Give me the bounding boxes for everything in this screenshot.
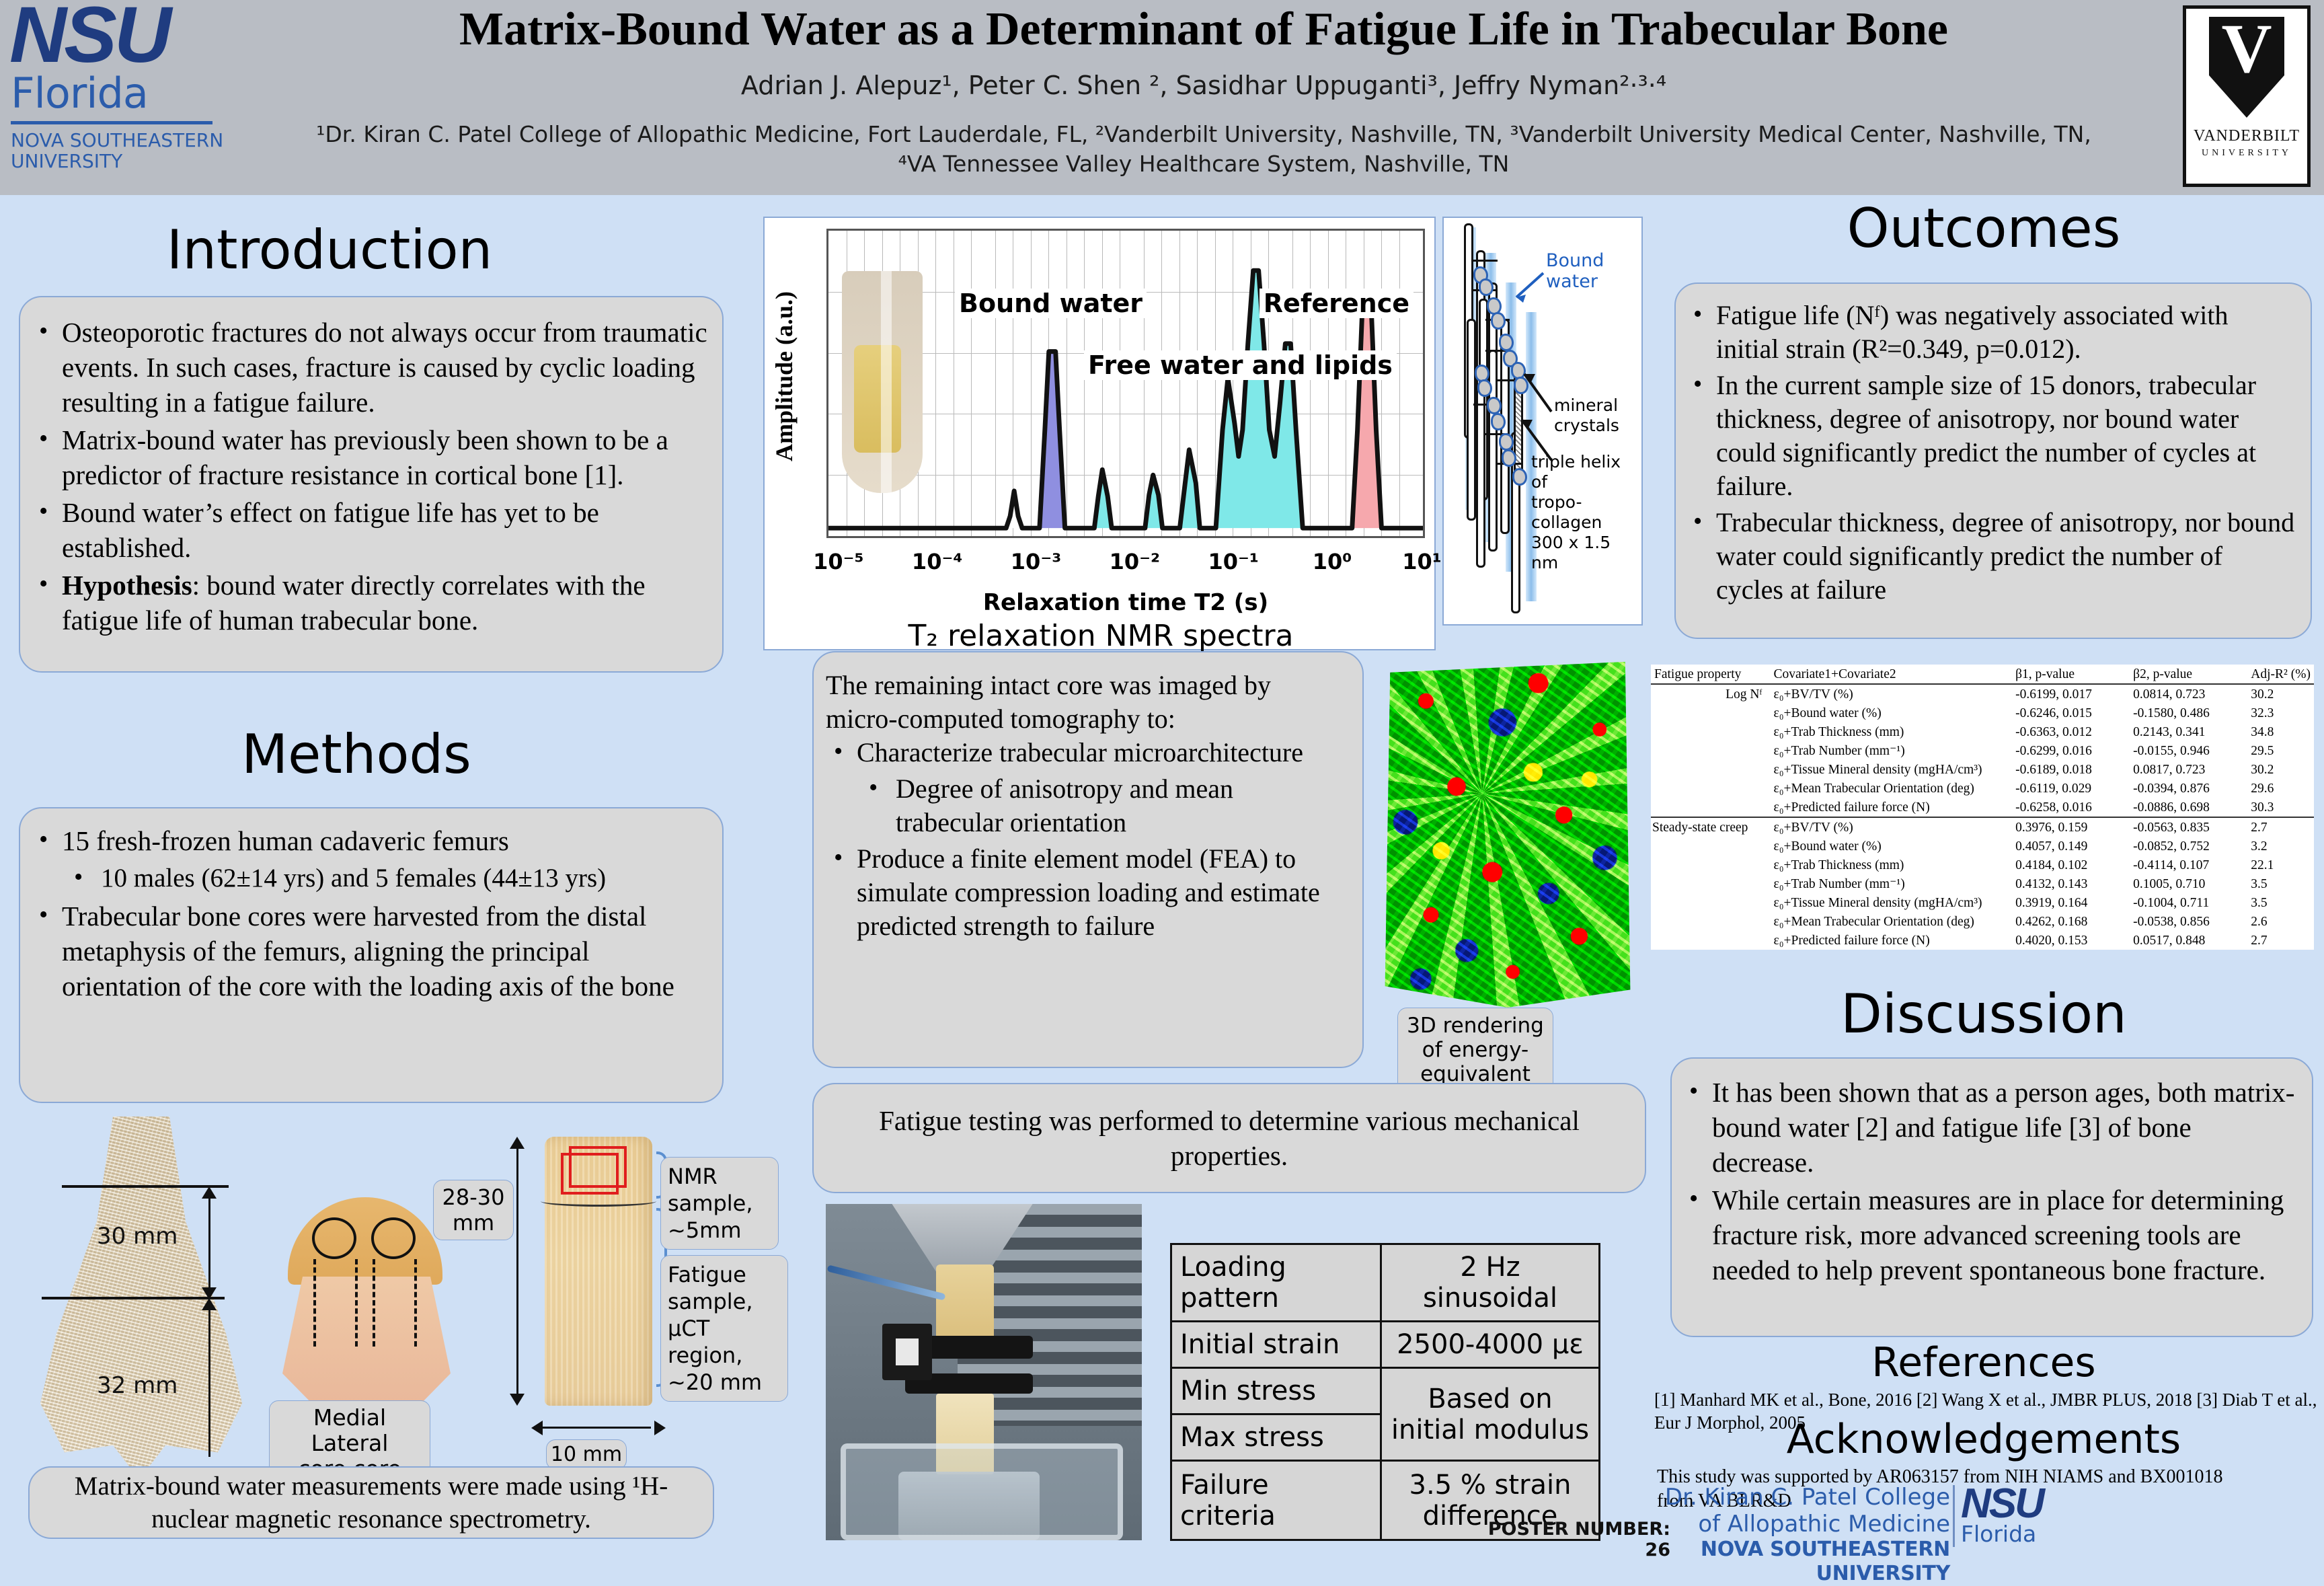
footer-nsu-florida: Florida — [1961, 1523, 2176, 1546]
affiliation-list: ¹Dr. Kiran C. Patel College of Allopathi… — [309, 120, 2098, 179]
table-row: ε₀+Mean Trabecular Orientation (deg) 0.4… — [1651, 912, 2314, 931]
femur-label-lower: 32 mm — [97, 1372, 178, 1399]
nmr-spectra-figure: Amplitude (a.u.) — [763, 217, 1436, 650]
cell-beta2: -0.0852, 0.752 — [2130, 837, 2247, 856]
cell-beta2: 0.0814, 0.723 — [2130, 684, 2247, 704]
collagen-fibril — [1476, 386, 1485, 568]
x-tick-label: 10¹ — [1402, 549, 1442, 574]
epiphysis-photo — [282, 1197, 451, 1419]
cell-adj-r2: 34.8 — [2247, 722, 2314, 741]
strain-colormap-texture — [1380, 651, 1635, 1008]
row-label: Failure criteria — [1171, 1461, 1381, 1540]
list-item: Produce a finite element model (FEA) to … — [826, 842, 1346, 943]
nmr-x-axis-ticks: 10⁻⁵ 10⁻⁴ 10⁻³ 10⁻² 10⁻¹ 10⁰ 10¹ — [826, 549, 1425, 581]
nmr-region-outline — [561, 1153, 619, 1195]
vanderbilt-name: VANDERBILT — [2194, 127, 2300, 145]
row-label: Max stress — [1171, 1414, 1381, 1461]
cell-adj-r2: 30.2 — [2247, 684, 2314, 704]
mineral-crystal — [1502, 449, 1516, 467]
introduction-bullet-list: Osteoporotic fractures do not always occ… — [31, 315, 707, 638]
table-row: Loading pattern 2 Hz sinusoidal — [1171, 1244, 1600, 1322]
nmr-sample-tube-photo — [842, 271, 923, 493]
discussion-heading: Discussion — [1668, 986, 2300, 1043]
cell-beta2: -0.1004, 0.711 — [2130, 893, 2247, 912]
cell-adj-r2: 29.6 — [2247, 779, 2314, 798]
tube-glass-highlight — [881, 271, 892, 493]
list-item-hypothesis: Hypothesis: bound water directly correla… — [31, 568, 707, 638]
methods-bullet-list: 15 fresh-frozen human cadaveric femurs 1… — [31, 823, 707, 1004]
list-item: Trabecular thickness, degree of anisotro… — [1685, 506, 2296, 607]
x-tick-label: 10⁻³ — [1011, 549, 1061, 574]
nmr-measurement-text: Matrix-bound water measurements were mad… — [47, 1470, 695, 1536]
introduction-heading: Introduction — [121, 222, 538, 278]
mineral-crystal — [1487, 397, 1502, 414]
cell-adj-r2: 32.3 — [2247, 704, 2314, 722]
table-row: ε₀+Trab Thickness (mm) -0.6363, 0.012 0.… — [1651, 722, 2314, 741]
table-row: ε₀+Trab Thickness (mm) 0.4184, 0.102 -0.… — [1651, 856, 2314, 874]
cut-line-lower — [42, 1297, 225, 1299]
cell-beta2: 0.0517, 0.848 — [2130, 931, 2247, 950]
cell-beta1: 0.3919, 0.164 — [2012, 893, 2130, 912]
methods-heading: Methods — [168, 726, 545, 783]
footer-nsu-wordmark: NSU — [1961, 1485, 2176, 1523]
x-tick-label: 10⁻⁵ — [813, 549, 863, 574]
cell-covariate: ε₀+Bound water (%) — [1771, 704, 2013, 722]
microct-bullet-list: Characterize trabecular microarchitectur… — [826, 736, 1346, 943]
fea-strain-rendering — [1380, 651, 1635, 1008]
vanderbilt-logo: V VANDERBILT UNIVERSITY — [2183, 5, 2311, 187]
blue-probe-tool — [826, 1264, 945, 1300]
annotation-reference: Reference — [1260, 289, 1413, 318]
outcomes-bullet-list: Fatigue life (Nᶠ) was negatively associa… — [1685, 299, 2296, 607]
hypothesis-label: Hypothesis — [62, 570, 192, 601]
x-tick-label: 10⁻² — [1110, 549, 1160, 574]
x-tick-label: 10⁻¹ — [1208, 549, 1258, 574]
nsu-logo-fullname: NOVA SOUTHEASTERN UNIVERSITY — [11, 130, 235, 172]
mineral-crystal — [1512, 468, 1527, 486]
cell-covariate: ε₀+Tissue Mineral density (mgHA/cm³) — [1771, 893, 2013, 912]
footer-college-line2: of Allopathic Medicine — [1634, 1511, 1950, 1538]
cell-beta2: 0.2143, 0.341 — [2130, 722, 2247, 741]
lateral-core-outline — [371, 1217, 416, 1259]
arrow-right-icon — [654, 1421, 666, 1435]
mineral-crystal — [1479, 278, 1494, 296]
nsu-logo: NSU Florida NOVA SOUTHEASTERN UNIVERSITY — [7, 0, 235, 195]
cell-beta2: -0.1580, 0.486 — [2130, 704, 2247, 722]
cell-adj-r2: 3.2 — [2247, 837, 2314, 856]
list-item: Matrix-bound water has previously been s… — [31, 422, 707, 492]
row-label: Loading pattern — [1171, 1244, 1381, 1322]
vanderbilt-shield-letter: V — [2221, 13, 2272, 85]
table-row: ε₀+Tissue Mineral density (mgHA/cm³) 0.3… — [1651, 893, 2314, 912]
collagen-schematic-figure: Bound water mineral crystals triple heli… — [1442, 217, 1643, 626]
cell-covariate: ε₀+BV/TV (%) — [1771, 684, 2013, 704]
cell-covariate: ε₀+BV/TV (%) — [1771, 817, 2013, 837]
bone-core-photo — [545, 1137, 652, 1406]
references-heading: References — [1668, 1341, 2300, 1384]
list-item: Osteoporotic fractures do not always occ… — [31, 315, 707, 420]
cell-covariate: ε₀+Tissue Mineral density (mgHA/cm³) — [1771, 760, 2013, 779]
cell-beta1: 0.4057, 0.149 — [2012, 837, 2130, 856]
dimension-line-upper — [208, 1191, 210, 1295]
list-item: Degree of anisotropy and mean trabecular… — [826, 772, 1346, 839]
cell-beta2: -0.0886, 0.698 — [2130, 798, 2247, 817]
cell-covariate: ε₀+Mean Trabecular Orientation (deg) — [1771, 912, 2013, 931]
list-item: Bound water’s effect on fatigue life has… — [31, 495, 707, 565]
row-value: 2500-4000 με — [1381, 1322, 1600, 1368]
loading-parameters-table: Loading pattern 2 Hz sinusoidal Initial … — [1170, 1243, 1600, 1541]
cell-beta1: 0.4020, 0.153 — [2012, 931, 2130, 950]
mineral-crystal — [1491, 413, 1506, 430]
cell-beta2: -0.0538, 0.856 — [2130, 912, 2247, 931]
cell-covariate: ε₀+Predicted failure force (N) — [1771, 931, 2013, 950]
epiphysis-cut-surface — [288, 1197, 442, 1285]
core-depth-dashed-line — [313, 1259, 316, 1347]
cell-covariate: ε₀+Predicted failure force (N) — [1771, 798, 2013, 817]
table-row: ε₀+Trab Number (mm⁻¹) 0.4132, 0.143 0.10… — [1651, 874, 2314, 893]
footer-divider — [1953, 1485, 1955, 1547]
outcomes-panel: Fatigue life (Nᶠ) was negatively associa… — [1674, 282, 2312, 639]
list-item: While certain measures are in place for … — [1681, 1182, 2298, 1287]
bone-marrow-sample — [854, 345, 901, 453]
cell-beta2: -0.0563, 0.835 — [2130, 817, 2247, 837]
cell-beta1: -0.6258, 0.016 — [2012, 798, 2130, 817]
cell-beta1: -0.6299, 0.016 — [2012, 741, 2130, 760]
cell-beta2: 0.1005, 0.710 — [2130, 874, 2247, 893]
list-item: In the current sample size of 15 donors,… — [1685, 369, 2296, 503]
nmr-plot-area: Bound water Reference Free water and lip… — [826, 229, 1425, 538]
column-header: Adj-R² (%) — [2247, 665, 2314, 684]
cell-beta1: 0.4132, 0.143 — [2012, 874, 2130, 893]
cell-adj-r2: 30.2 — [2247, 760, 2314, 779]
column-header: Fatigue property — [1651, 665, 1771, 684]
arrow-up-icon — [202, 1186, 217, 1199]
poster-header: NSU Florida NOVA SOUTHEASTERN UNIVERSITY… — [0, 0, 2324, 195]
annotation-bound-water: Bound water — [955, 289, 1147, 318]
epiphysis-body — [282, 1277, 451, 1411]
core-length-caption: 28-30 mm — [433, 1180, 514, 1240]
footer-university: NOVA SOUTHEASTERN UNIVERSITY — [1634, 1538, 1950, 1586]
cell-beta1: -0.6199, 0.017 — [2012, 684, 2130, 704]
mineral-crystal — [1499, 334, 1514, 351]
cell-covariate: ε₀+Trab Thickness (mm) — [1771, 856, 2013, 874]
cell-covariate: ε₀+Trab Number (mm⁻¹) — [1771, 874, 2013, 893]
regression-results-table: Fatigue property Covariate1+Covariate2 β… — [1651, 665, 2314, 950]
table-row: Log Nᶠ ε₀+BV/TV (%) -0.6199, 0.017 0.081… — [1651, 684, 2314, 704]
label-bound-water: Bound water — [1546, 250, 1641, 292]
cell-beta1: -0.6246, 0.015 — [2012, 704, 2130, 722]
cell-adj-r2: 30.3 — [2247, 798, 2314, 817]
nmr-x-axis-label: Relaxation time T2 (s) — [826, 589, 1425, 616]
cell-adj-r2: 2.6 — [2247, 912, 2314, 931]
extensometer-sensor — [882, 1324, 932, 1380]
cell-adj-r2: 3.5 — [2247, 893, 2314, 912]
medial-core-outline — [312, 1217, 356, 1259]
column-header: β1, p-value — [2012, 665, 2130, 684]
cell-beta1: -0.6189, 0.018 — [2012, 760, 2130, 779]
fatigue-sample-caption: Fatigue sample, μCT region, ~20 mm — [660, 1255, 788, 1402]
fatigue-testing-note: Fatigue testing was performed to determi… — [812, 1083, 1646, 1193]
mineral-crystal — [1491, 312, 1506, 330]
cell-adj-r2: 22.1 — [2247, 856, 2314, 874]
cell-covariate: ε₀+Trab Thickness (mm) — [1771, 722, 2013, 741]
column-header: β2, p-value — [2130, 665, 2247, 684]
mineral-crystal — [1477, 379, 1492, 397]
table-row: ε₀+Bound water (%) -0.6246, 0.015 -0.158… — [1651, 704, 2314, 722]
cell-beta1: -0.6119, 0.029 — [2012, 779, 2130, 798]
table-header-row: Fatigue property Covariate1+Covariate2 β… — [1651, 665, 2314, 684]
table-row: ε₀+Tissue Mineral density (mgHA/cm³) -0.… — [1651, 760, 2314, 779]
cell-adj-r2: 29.5 — [2247, 741, 2314, 760]
list-item: Fatigue life (Nᶠ) was negatively associa… — [1685, 299, 2296, 366]
arrow-up-icon — [510, 1137, 525, 1149]
row-label: Initial strain — [1171, 1322, 1381, 1368]
table-row: ε₀+Bound water (%) 0.4057, 0.149 -0.0852… — [1651, 837, 2314, 856]
footer-nsu-logo: NSU Florida — [1961, 1485, 2176, 1550]
core-depth-dashed-line — [355, 1259, 358, 1347]
table-row: ε₀+Mean Trabecular Orientation (deg) -0.… — [1651, 779, 2314, 798]
cell-adj-r2: 2.7 — [2247, 931, 2314, 950]
dimension-line-lower — [208, 1302, 210, 1457]
methods-panel: 15 fresh-frozen human cadaveric femurs 1… — [19, 807, 724, 1103]
group-label: Log Nᶠ — [1651, 684, 1771, 704]
core-diameter-dimension — [531, 1419, 666, 1437]
table-row: ε₀+Predicted failure force (N) -0.6258, … — [1651, 798, 2314, 817]
discussion-panel: It has been shown that as a person ages,… — [1670, 1057, 2313, 1337]
mechanical-testing-photo — [826, 1204, 1142, 1540]
table-row: ε₀+Predicted failure force (N) 0.4020, 0… — [1651, 931, 2314, 950]
nsu-logo-florida: Florida — [11, 73, 235, 114]
table-row: Initial strain 2500-4000 με — [1171, 1322, 1600, 1368]
vanderbilt-shield-icon: V — [2209, 17, 2284, 118]
microct-intro: The remaining intact core was imaged by … — [826, 669, 1346, 736]
core-depth-dashed-line — [373, 1259, 375, 1347]
microct-panel: The remaining intact core was imaged by … — [812, 651, 1364, 1068]
footer-college-line1: Dr. Kiran C. Patel College — [1634, 1484, 1950, 1511]
table-row: Steady-state creep ε₀+BV/TV (%) 0.3976, … — [1651, 817, 2314, 837]
annotation-free-water: Free water and lipids — [1084, 350, 1397, 380]
core-diameter-caption: 10 mm — [546, 1439, 627, 1470]
arrow-up-icon — [202, 1298, 217, 1310]
cell-covariate: ε₀+Trab Number (mm⁻¹) — [1771, 741, 2013, 760]
cell-beta2: -0.0394, 0.876 — [2130, 779, 2247, 798]
arrow-down-icon — [510, 1394, 525, 1406]
nmr-measurement-note: Matrix-bound water measurements were mad… — [28, 1466, 714, 1539]
cell-beta2: -0.4114, 0.107 — [2130, 856, 2247, 874]
table-row: ε₀+Trab Number (mm⁻¹) -0.6299, 0.016 -0.… — [1651, 741, 2314, 760]
mineral-crystal — [1499, 433, 1514, 451]
nmr-figure-title: T₂ relaxation NMR spectra — [765, 619, 1437, 653]
nmr-sample-caption: NMR sample, ~5mm — [660, 1157, 779, 1250]
list-item: 15 fresh-frozen human cadaveric femurs — [31, 823, 707, 858]
x-tick-label: 10⁰ — [1313, 549, 1352, 574]
core-depth-dashed-line — [414, 1259, 417, 1347]
outcomes-heading: Outcomes — [1668, 200, 2300, 257]
femur-label-upper: 30 mm — [97, 1223, 178, 1250]
row-value: 2 Hz sinusoidal — [1381, 1244, 1600, 1322]
cell-covariate: ε₀+Mean Trabecular Orientation (deg) — [1771, 779, 2013, 798]
list-item: 10 males (62±14 yrs) and 5 females (44±1… — [31, 861, 707, 896]
list-item: It has been shown that as a person ages,… — [1681, 1075, 2298, 1180]
cell-beta2: -0.0155, 0.946 — [2130, 741, 2247, 760]
x-tick-label: 10⁻⁴ — [912, 549, 962, 574]
group-label: Steady-state creep — [1651, 817, 1771, 837]
label-mineral-crystals: mineral crystals — [1554, 395, 1619, 436]
collagen-fibril — [1488, 350, 1498, 552]
cell-beta1: 0.4262, 0.168 — [2012, 912, 2130, 931]
cell-adj-r2: 2.7 — [2247, 817, 2314, 837]
cell-covariate: ε₀+Bound water (%) — [1771, 837, 2013, 856]
femur-section-photo: 30 mm 32 mm — [40, 1117, 242, 1466]
list-item: Characterize trabecular microarchitectur… — [826, 736, 1346, 769]
cell-beta2: 0.0817, 0.723 — [2130, 760, 2247, 779]
core-length-dimension-line — [516, 1142, 518, 1399]
fatigue-testing-text: Fatigue testing was performed to determi… — [834, 1103, 1625, 1173]
author-list: Adrian J. Alepuz¹, Peter C. Shen ², Sasi… — [242, 70, 2165, 101]
nsu-logo-divider — [11, 121, 212, 124]
list-item: Trabecular bone cores were harvested fro… — [31, 899, 707, 1004]
mineral-crystal — [1514, 377, 1528, 394]
nsu-logo-wordmark: NSU — [9, 0, 235, 70]
dimension-bar — [541, 1427, 651, 1429]
saline-bath-container — [841, 1443, 1123, 1540]
row-value: Based on initial modulus — [1381, 1368, 1600, 1461]
table-row: Min stress Based on initial modulus — [1171, 1368, 1600, 1414]
footer-college-block: Dr. Kiran C. Patel College of Allopathic… — [1634, 1484, 1950, 1586]
label-tropocollagen: triple helix of tropo-collagen 300 x 1.5… — [1531, 452, 1641, 573]
collagen-fibril — [1467, 319, 1476, 521]
introduction-panel: Osteoporotic fractures do not always occ… — [19, 296, 724, 673]
nmr-y-axis-label: Amplitude (a.u.) — [769, 265, 800, 487]
page-title: Matrix-Bound Water as a Determinant of F… — [242, 4, 2165, 55]
cell-beta1: -0.6363, 0.012 — [2012, 722, 2130, 741]
cell-adj-r2: 3.5 — [2247, 874, 2314, 893]
row-label: Min stress — [1171, 1368, 1381, 1414]
vanderbilt-subname: UNIVERSITY — [2202, 148, 2292, 159]
cell-beta1: 0.3976, 0.159 — [2012, 817, 2130, 837]
acknowledgements-heading: Acknowledgements — [1668, 1418, 2300, 1461]
core-cut-curve — [541, 1196, 656, 1207]
column-header: Covariate1+Covariate2 — [1771, 665, 2013, 684]
cell-beta1: 0.4184, 0.102 — [2012, 856, 2130, 874]
horizontal-arrow-icon — [531, 1419, 666, 1437]
discussion-bullet-list: It has been shown that as a person ages,… — [1681, 1075, 2298, 1287]
